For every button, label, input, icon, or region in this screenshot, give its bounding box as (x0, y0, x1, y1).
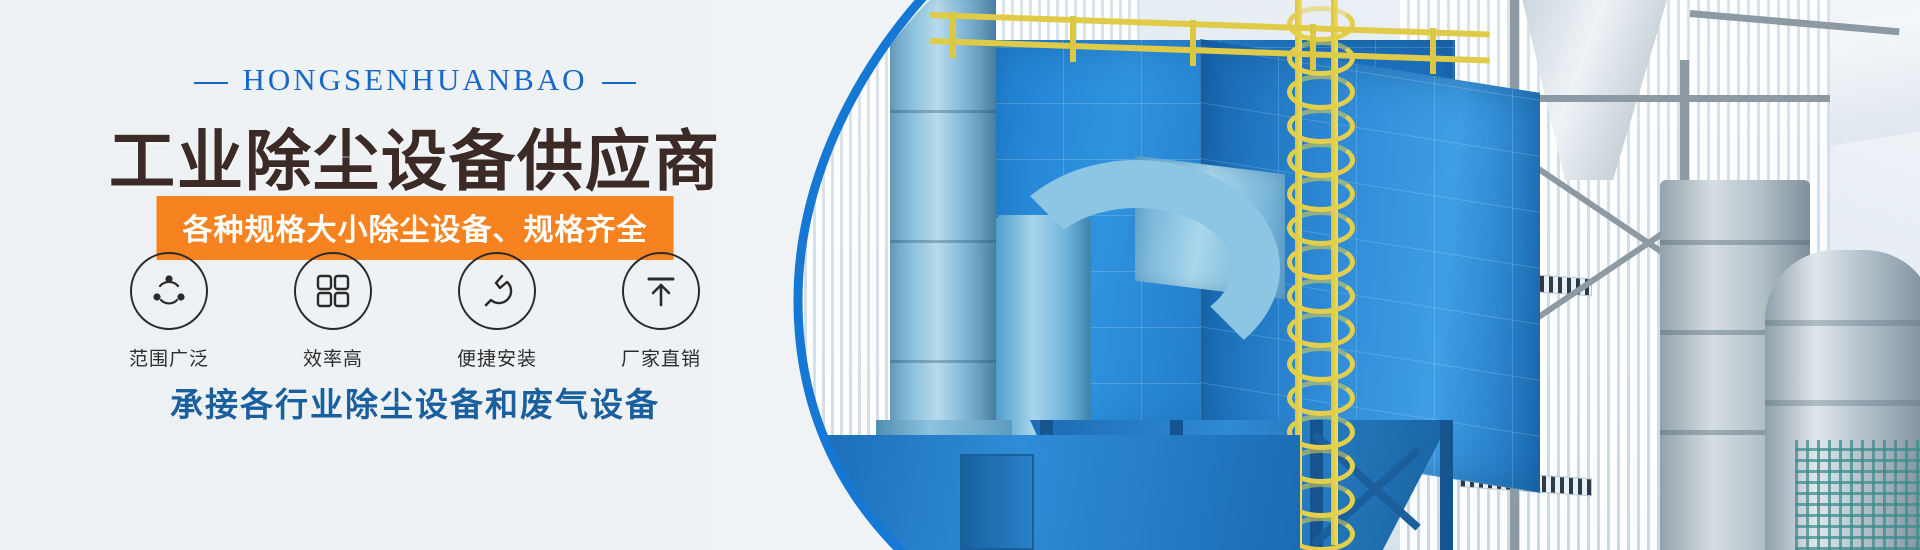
feature-item-installation[interactable]: 便捷安装 (449, 252, 545, 371)
up-arrow-bar-icon (622, 252, 700, 330)
brand-eyebrow: HONGSENHUANBAO (0, 62, 830, 98)
stack-band (890, 360, 996, 363)
brand-eyebrow-text: HONGSENHUANBAO (242, 62, 587, 97)
wrench-glyph (476, 270, 518, 312)
duct-elbow (994, 160, 1280, 376)
stack-band (890, 240, 996, 243)
industrial-equipment-photo (780, 0, 1920, 550)
feature-item-efficiency[interactable]: 效率高 (285, 252, 381, 371)
page-title: 工业除尘设备供应商 (0, 108, 830, 204)
up-arrow-bar-glyph (641, 271, 681, 311)
duct-ring (1765, 320, 1920, 326)
blue-base-enclosure (780, 435, 1300, 550)
network-nodes-icon (130, 252, 208, 330)
four-squares-grid-icon (294, 252, 372, 330)
feature-label: 范围广泛 (121, 344, 217, 371)
dash-right-icon (602, 82, 636, 84)
wrench-icon (458, 252, 536, 330)
four-squares-glyph (313, 271, 353, 311)
feature-item-factory-direct[interactable]: 厂家直销 (613, 252, 709, 371)
dash-left-icon (194, 82, 228, 84)
network-nodes-glyph (148, 270, 190, 312)
top-handrail (930, 8, 1630, 68)
vessel-ring (1660, 240, 1810, 245)
feature-item-range[interactable]: 范围广泛 (121, 252, 217, 371)
stack-band (890, 110, 996, 113)
access-door (960, 454, 1034, 550)
tagline-badge: 各种规格大小除尘设备、规格齐全 (157, 196, 674, 260)
feature-list: 范围广泛 效率高 (0, 252, 830, 371)
feature-label: 效率高 (285, 344, 381, 371)
hero-banner: HONGSENHUANBAO 工业除尘设备供应商 各种规格大小除尘设备、规格齐全… (0, 0, 1920, 550)
teal-safety-fence (1795, 440, 1920, 550)
truss-beam (1690, 10, 1900, 35)
subtitle-text: 承接各行业除尘设备和废气设备 (0, 378, 830, 426)
banner-content: HONGSENHUANBAO 工业除尘设备供应商 各种规格大小除尘设备、规格齐全… (0, 0, 830, 550)
feature-label: 便捷安装 (449, 344, 545, 371)
support-leg (1440, 420, 1453, 550)
blue-stack (890, 0, 996, 460)
feature-label: 厂家直销 (613, 344, 709, 371)
duct-ring (1765, 400, 1920, 406)
truss-beam (1510, 95, 1830, 102)
